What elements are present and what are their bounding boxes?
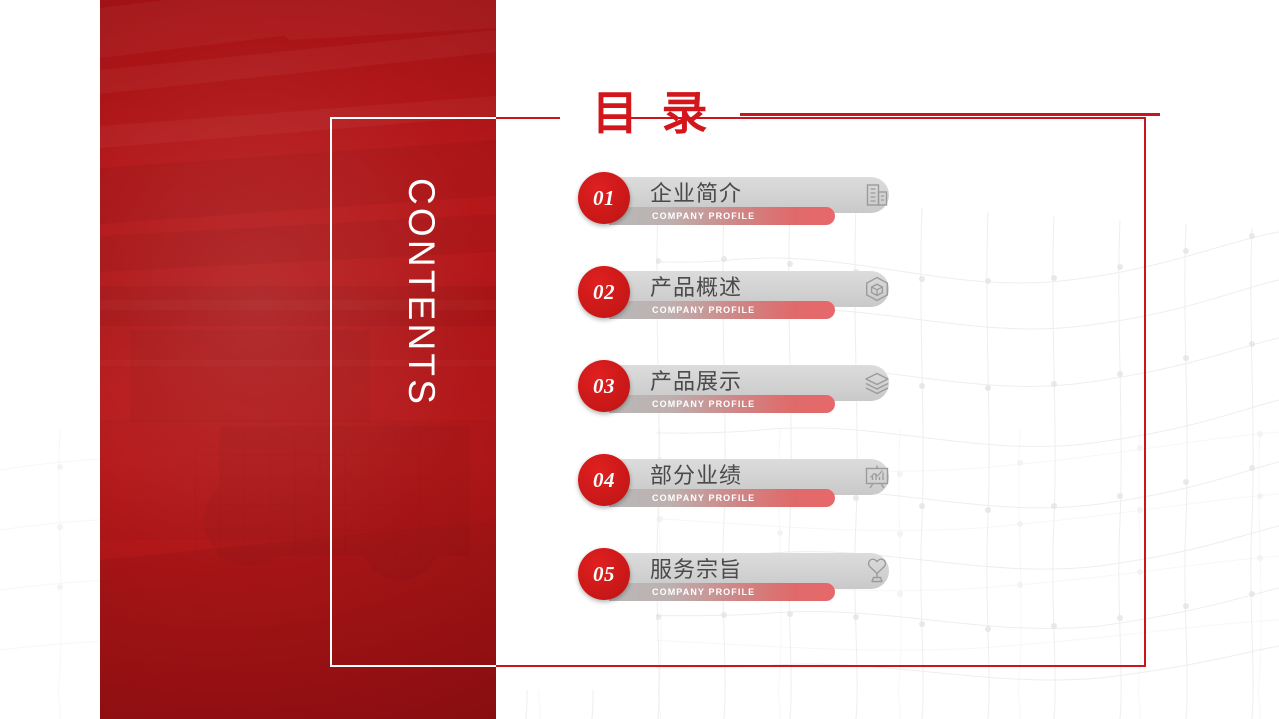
- toc-item-02[interactable]: COMPANY PROFILE 产品概述 02: [578, 266, 998, 360]
- toc-title: 企业简介: [650, 174, 742, 212]
- toc-item-04[interactable]: COMPANY PROFILE 部分业绩 04: [578, 454, 998, 548]
- toc-number-badge: 02: [578, 266, 630, 318]
- page-title-group: 目 录: [592, 88, 1160, 140]
- layers-icon: [862, 368, 892, 398]
- toc-number: 03: [593, 376, 615, 397]
- toc-item-03[interactable]: COMPANY PROFILE 产品展示 03: [578, 360, 998, 454]
- toc-number: 04: [593, 470, 615, 491]
- contents-vertical-label: CONTENTS: [397, 178, 445, 408]
- toc-item-05[interactable]: COMPANY PROFILE 服务宗旨 05: [578, 548, 998, 642]
- slide-canvas: CONTENTS 目 录 COMPANY PROFILE 企业简介 0: [0, 0, 1279, 719]
- page-title: 目 录: [592, 88, 714, 140]
- toc-title: 服务宗旨: [650, 550, 742, 588]
- building-icon: [862, 180, 892, 210]
- heart-stand-icon: [862, 556, 892, 586]
- toc-title: 产品展示: [650, 362, 742, 400]
- toc-number-badge: 04: [578, 454, 630, 506]
- toc-number-badge: 05: [578, 548, 630, 600]
- toc-title: 产品概述: [650, 268, 742, 306]
- toc-number-badge: 03: [578, 360, 630, 412]
- package-hexagon-icon: [862, 274, 892, 304]
- toc-number: 05: [593, 564, 615, 585]
- toc-title: 部分业绩: [650, 456, 742, 494]
- title-underline-rule: [740, 113, 1160, 116]
- toc-number: 01: [593, 188, 615, 209]
- toc-number: 02: [593, 282, 615, 303]
- toc-list: COMPANY PROFILE 企业简介 01 COMPANY PROFILE …: [578, 172, 998, 642]
- presentation-chart-icon: [862, 462, 892, 492]
- toc-number-badge: 01: [578, 172, 630, 224]
- toc-item-01[interactable]: COMPANY PROFILE 企业简介 01: [578, 172, 998, 266]
